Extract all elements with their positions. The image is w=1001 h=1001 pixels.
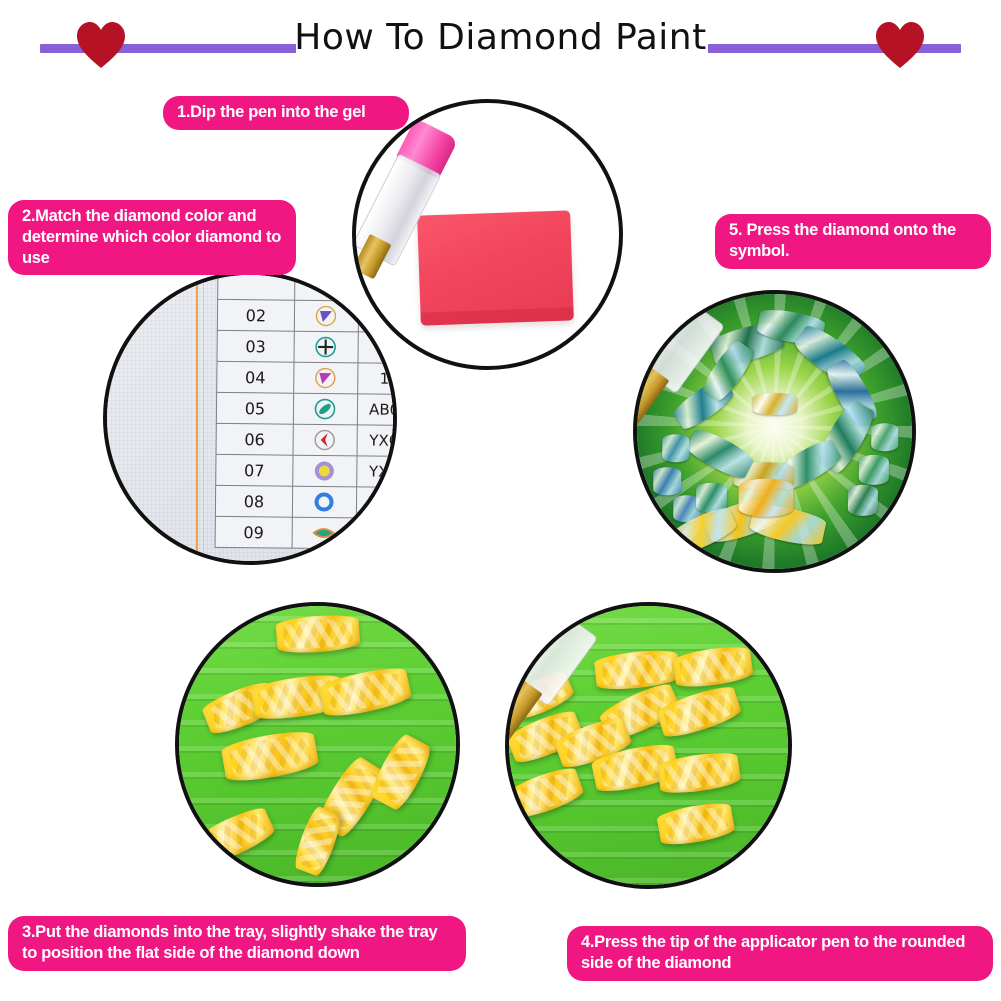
chart-cell-number: 08: [215, 486, 292, 518]
gel-pad: [417, 211, 573, 327]
triangle-symbol: [294, 300, 358, 332]
yellow-diamond: [192, 803, 277, 868]
chart-row: 02093: [217, 300, 397, 333]
chart-row: 08YX106: [215, 486, 397, 519]
yellow-diamond: [671, 644, 753, 691]
color-symbol-chart: 02002093031110419505AB00406YX05807YX0830…: [214, 271, 397, 550]
how-to-diamond-paint-infographic: How To Diamond Paint 1.Dip the pen into …: [0, 0, 1001, 1001]
chart-cell-number: 05: [216, 393, 293, 425]
step-5-label: 5. Press the diamond onto the symbol.: [715, 214, 991, 269]
chart-cell-code: YX106: [356, 487, 397, 519]
yellow-diamond: [275, 613, 360, 655]
chart-cell-code: AB004: [357, 394, 397, 426]
chart-cell-number: 02: [217, 300, 294, 332]
chart-row: 03111: [217, 331, 397, 364]
yellow-diamond: [291, 805, 345, 879]
step-2-label: 2.Match the diamond color and determine …: [8, 200, 296, 275]
chart-cell-code: YX125: [356, 518, 397, 550]
diamond-group: [179, 606, 456, 883]
chart-cell-code: YX058: [357, 425, 397, 457]
chart-cell-code: 195: [357, 363, 397, 395]
rhinestone: [739, 478, 794, 517]
gel-pad-scene: [356, 103, 619, 366]
chart-row: 05AB004: [216, 393, 397, 426]
yellow-diamond: [220, 727, 320, 784]
chart-cell-code: YX083: [356, 456, 397, 488]
chart-row: 06YX058: [216, 424, 397, 457]
chart-cell-code: 111: [358, 332, 397, 364]
step-3-image: [175, 602, 460, 887]
header: How To Diamond Paint: [0, 0, 1001, 88]
chart-cell-number: 07: [215, 455, 292, 487]
yellow-diamond: [505, 763, 586, 822]
chart-edge-line: [196, 275, 198, 561]
rhinestone: [654, 467, 682, 495]
step-1-label: 1.Dip the pen into the gel: [163, 96, 409, 130]
eye-symbol: [292, 517, 356, 549]
chart-cell-number: 04: [216, 362, 293, 394]
chart-edge-line-2: [203, 275, 204, 561]
ring-symbol: [292, 486, 356, 518]
arrow-symbol: [293, 424, 357, 456]
step-5-image: [633, 290, 916, 573]
chart-row: 04195: [216, 362, 397, 395]
chart-cell-code: 020: [358, 271, 397, 302]
rhinestone: [871, 423, 899, 451]
rhinestone: [847, 485, 877, 515]
chart-cell-number: 06: [216, 424, 293, 456]
leaf-symbol: [293, 393, 357, 425]
chart-row: 07YX083: [215, 455, 397, 488]
yellow-diamond: [317, 664, 412, 720]
chart-row: 09YX125: [215, 517, 397, 550]
step-2-image: 02002093031110419505AB00406YX05807YX0830…: [103, 271, 397, 565]
dot-symbol: [292, 455, 356, 487]
rhinestone: [683, 425, 755, 483]
chart-cell-code: 093: [358, 301, 397, 333]
rhinestone: [858, 455, 888, 485]
plus-symbol: [294, 331, 358, 363]
triangle-symbol: [293, 362, 357, 394]
chart-row: 020: [217, 271, 397, 302]
yellow-diamond: [656, 799, 736, 848]
step-3-label: 3.Put the diamonds into the tray, slight…: [8, 916, 466, 971]
rhinestone: [753, 393, 797, 415]
page-title: How To Diamond Paint: [0, 17, 1001, 58]
chart-cell-number: 09: [215, 517, 292, 549]
chart-cell-number: [217, 271, 294, 300]
rhinestone: [662, 434, 690, 462]
step-4-image: [505, 602, 792, 889]
chart-cell-number: 03: [217, 331, 294, 363]
step-4-label: 4.Press the tip of the applicator pen to…: [567, 926, 993, 981]
eyes-symbol: [294, 271, 358, 301]
